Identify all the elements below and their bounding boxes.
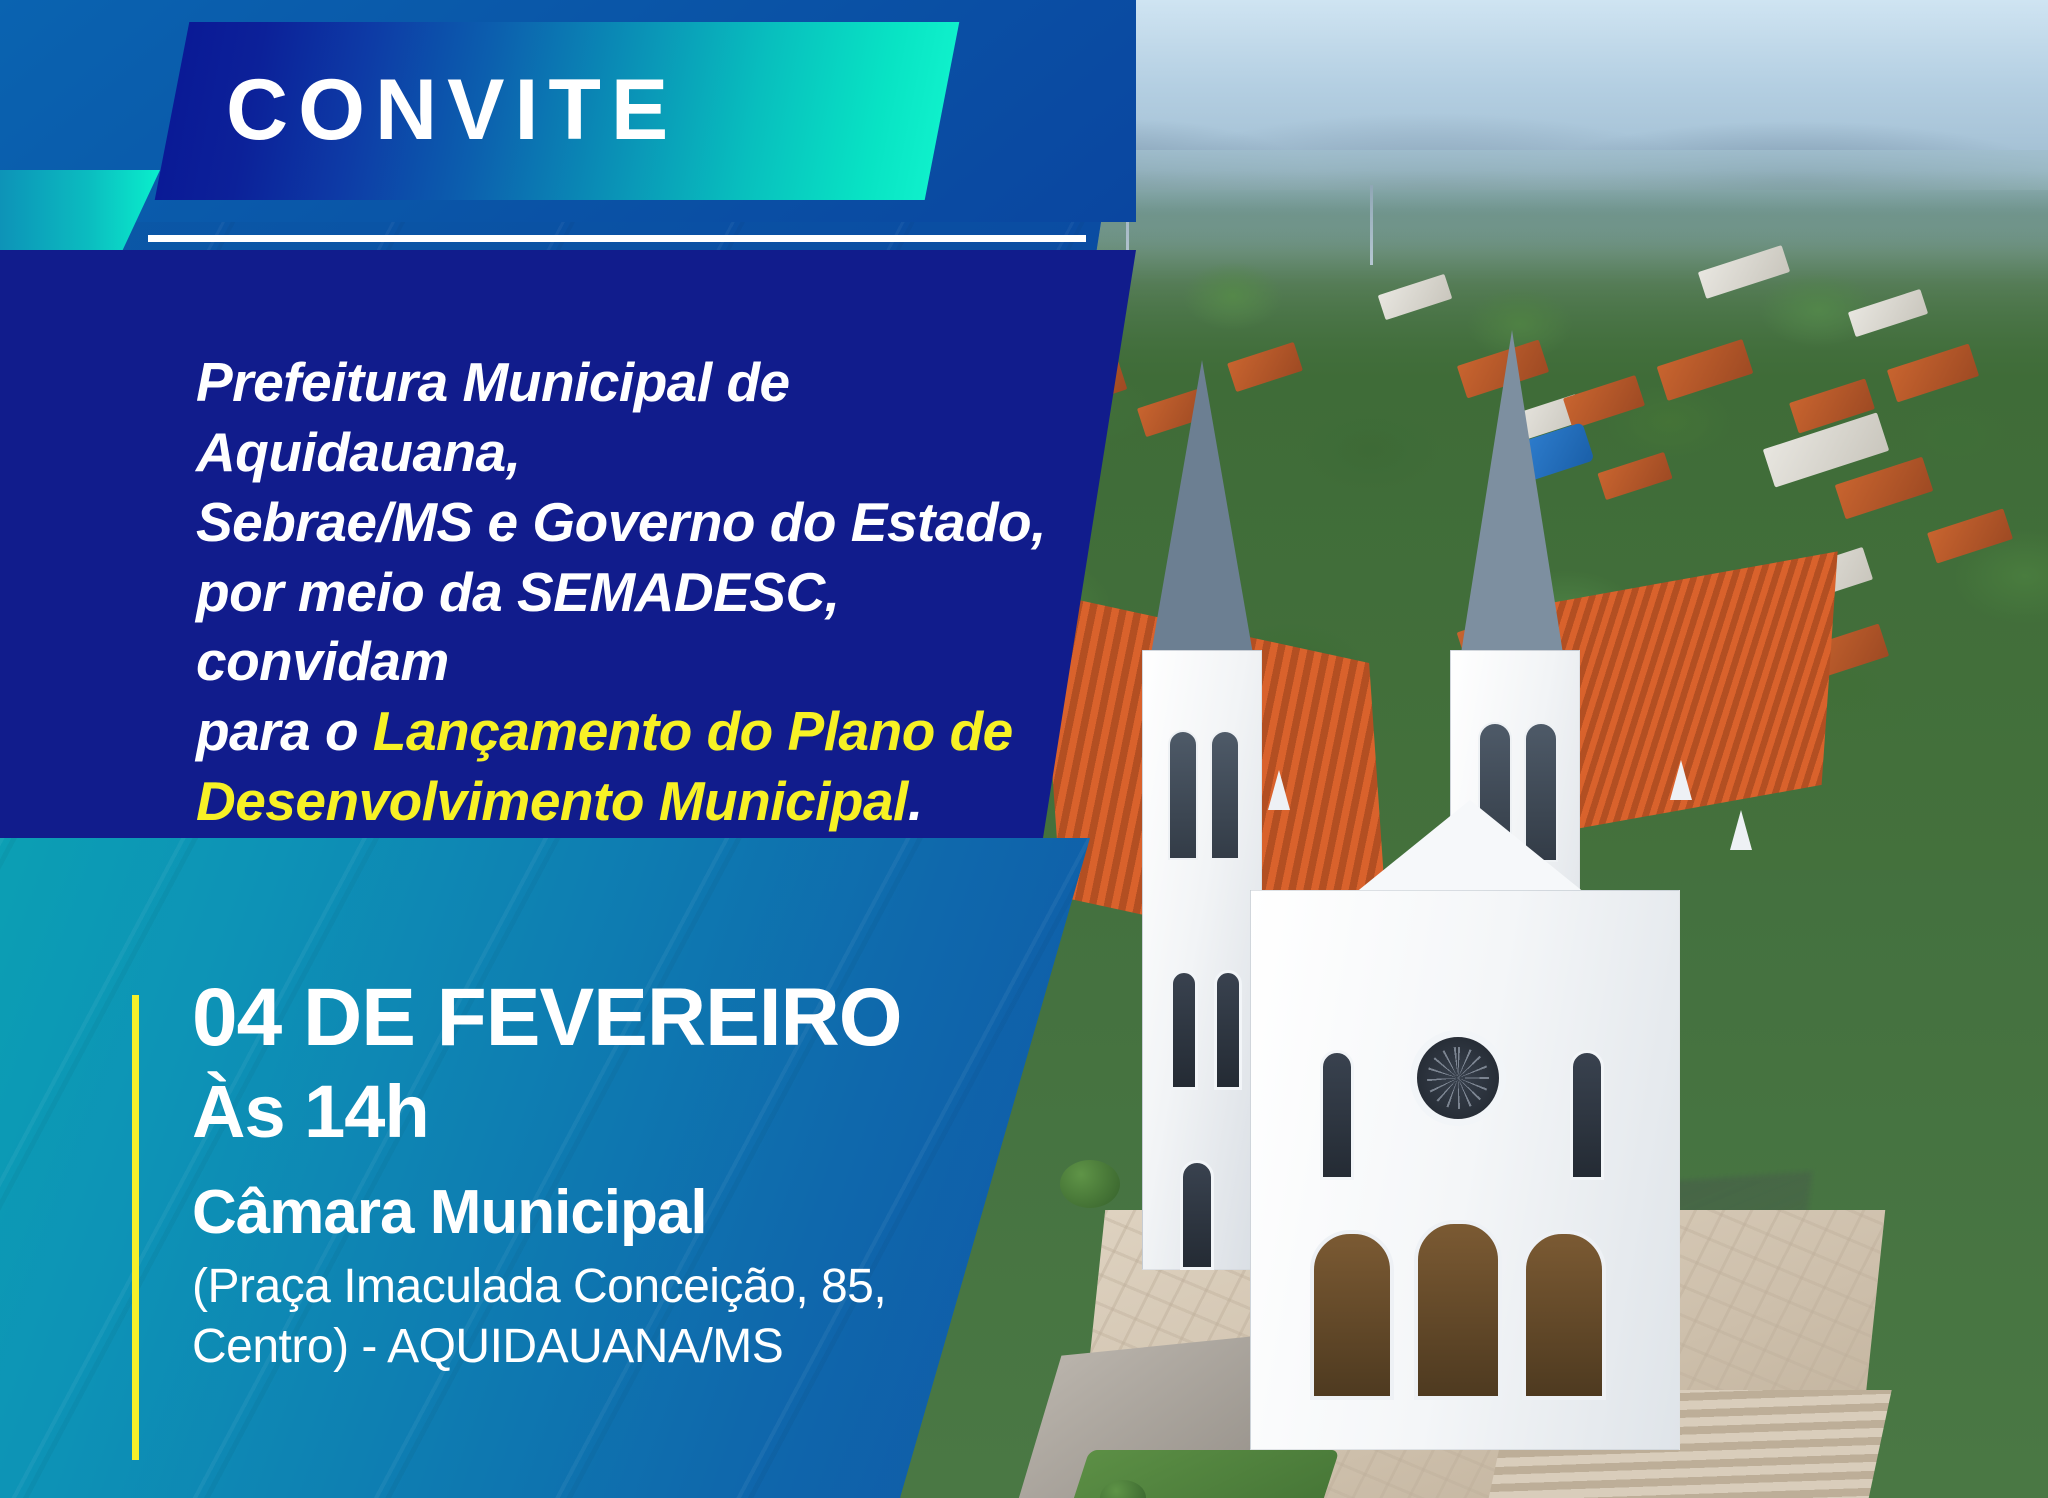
- invitation-body-text: Prefeitura Municipal de Aquidauana, Sebr…: [196, 348, 1096, 837]
- belfry-louver: [1168, 730, 1198, 860]
- invitation-poster: CONVITE Prefeitura Municipal de Aquidaua…: [0, 0, 2048, 1498]
- event-venue: Câmara Municipal: [192, 1177, 1022, 1248]
- body-line-5-highlight: Desenvolvimento Municipal: [196, 770, 908, 832]
- steeple-left: [1150, 360, 1254, 660]
- body-line-1: Prefeitura Municipal de Aquidauana,: [196, 348, 1096, 488]
- event-date: 04 DE FEVEREIRO: [192, 975, 1022, 1062]
- event-address-line-1: (Praça Imaculada Conceição, 85,: [192, 1257, 1022, 1317]
- yellow-accent-bar: [132, 995, 139, 1460]
- body-line-5: Desenvolvimento Municipal.: [196, 767, 1096, 837]
- event-details: 04 DE FEVEREIRO Às 14h Câmara Municipal …: [192, 975, 1022, 1377]
- antenna-icon: [1370, 185, 1373, 265]
- church-door: [1310, 1230, 1394, 1400]
- page-title: CONVITE: [226, 40, 926, 180]
- body-line-4-prefix: para o: [196, 700, 373, 762]
- body-line-2: Sebrae/MS e Governo do Estado,: [196, 488, 1096, 558]
- tower-window: [1180, 1160, 1214, 1270]
- belfry-louver: [1210, 730, 1240, 860]
- facade-window: [1320, 1050, 1354, 1180]
- bush: [1060, 1160, 1120, 1208]
- body-line-5-suffix: .: [908, 770, 923, 832]
- header-divider: [148, 235, 1086, 242]
- pinnacle: [1730, 810, 1752, 850]
- body-line-4: para o Lançamento do Plano de: [196, 697, 1096, 767]
- lawn: [1051, 1450, 1340, 1498]
- tower-window: [1214, 970, 1242, 1090]
- facade-window: [1570, 1050, 1604, 1180]
- body-line-3: por meio da SEMADESC, convidam: [196, 558, 1096, 698]
- body-line-4-highlight: Lançamento do Plano de: [373, 700, 1013, 762]
- church-door: [1522, 1230, 1606, 1400]
- pinnacle: [1670, 760, 1692, 800]
- rose-window: [1410, 1030, 1506, 1126]
- tower-window: [1170, 970, 1198, 1090]
- event-time: Às 14h: [192, 1068, 1022, 1155]
- event-address-line-2: Centro) - AQUIDAUANA/MS: [192, 1317, 1022, 1377]
- church-building: [1030, 330, 1850, 1498]
- steeple-right: [1460, 330, 1564, 660]
- pinnacle: [1268, 770, 1290, 810]
- church-door: [1414, 1220, 1502, 1400]
